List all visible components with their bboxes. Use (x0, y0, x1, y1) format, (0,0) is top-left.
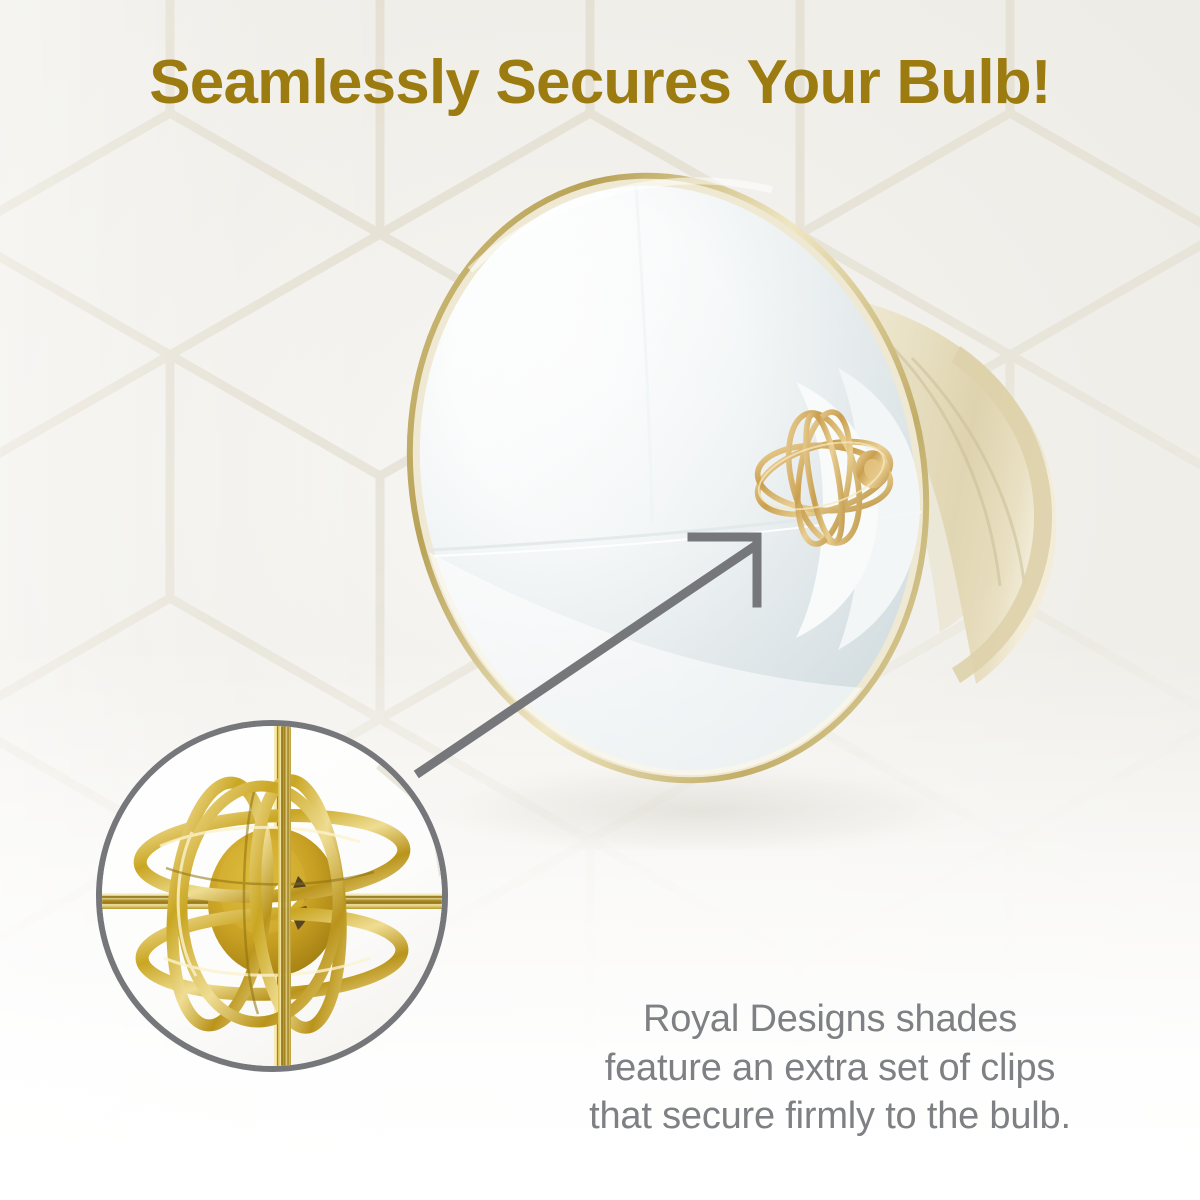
caption-line-1: Royal Designs shades (500, 995, 1160, 1044)
caption-line-3: that secure firmly to the bulb. (500, 1092, 1160, 1141)
caption-line-2: feature an extra set of clips (500, 1044, 1160, 1093)
promo-graphic: Seamlessly Secures Your Bulb! (0, 0, 1200, 1200)
harp-wire-front (278, 726, 291, 1066)
product-photo (400, 150, 1100, 850)
magnifier-inset (96, 720, 448, 1072)
page-title: Seamlessly Secures Your Bulb! (0, 52, 1200, 114)
caption-text: Royal Designs shades feature an extra se… (500, 995, 1160, 1141)
